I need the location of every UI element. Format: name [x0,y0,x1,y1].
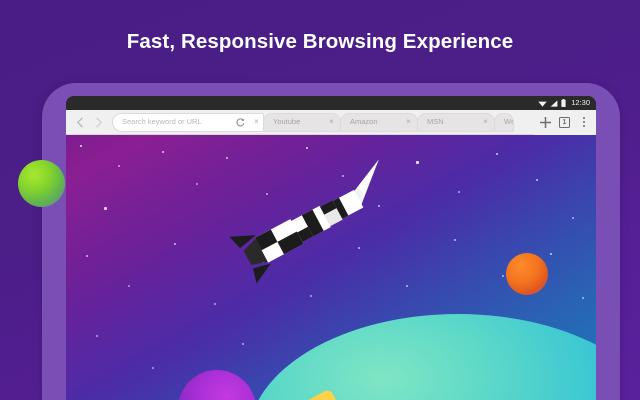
rocket [218,156,404,292]
omnibox[interactable]: Search keyword or URL × [112,113,264,132]
tab-close-button[interactable]: × [479,118,492,126]
plus-icon [539,116,552,129]
wifi-icon [538,100,547,107]
page-title: Fast, Responsive Browsing Experience [0,30,640,54]
toolbar-actions: 1 [534,110,596,135]
web-page-content [66,135,596,400]
planet-teal [248,314,596,400]
tab-close-button[interactable]: × [402,118,415,126]
chevron-right-icon [95,117,103,128]
tablet-device-frame: 12:30 Search keyword or URL × [42,83,620,400]
sphere-green [18,160,65,207]
tab-label: Youtube [273,118,325,126]
battery-icon [561,99,566,107]
tab-switcher-button[interactable]: 1 [555,110,574,135]
tab-strip: Youtube × Amazon × MSN × We [264,110,534,135]
tab-label: Amazon [350,118,402,126]
tab-label: We [504,118,513,126]
tablet-screen: 12:30 Search keyword or URL × [66,96,596,400]
browser-tab[interactable]: Youtube × [264,113,341,132]
browser-tab[interactable]: We [494,113,514,132]
omnibox-placeholder: Search keyword or URL [122,118,236,126]
omnibox-close-button[interactable]: × [250,118,263,126]
planet-purple [178,370,256,400]
tab-close-button[interactable]: × [325,118,338,126]
planet-orange [506,253,548,295]
android-status-bar: 12:30 [66,96,596,110]
back-button[interactable] [70,110,89,135]
status-bar-clock: 12:30 [571,99,590,107]
overflow-menu-button[interactable] [574,110,593,135]
signal-icon [550,100,558,107]
tab-count-badge: 1 [559,117,570,128]
browser-tab[interactable]: Amazon × [340,113,418,132]
tab-label: MSN [427,118,479,126]
chevron-left-icon [76,117,84,128]
reload-icon[interactable] [236,118,245,127]
browser-toolbar: Search keyword or URL × Youtube × Amazon… [66,110,596,135]
browser-tab[interactable]: MSN × [417,113,495,132]
new-tab-button[interactable] [536,110,555,135]
forward-button[interactable] [89,110,108,135]
three-dot-menu-icon [583,117,585,126]
